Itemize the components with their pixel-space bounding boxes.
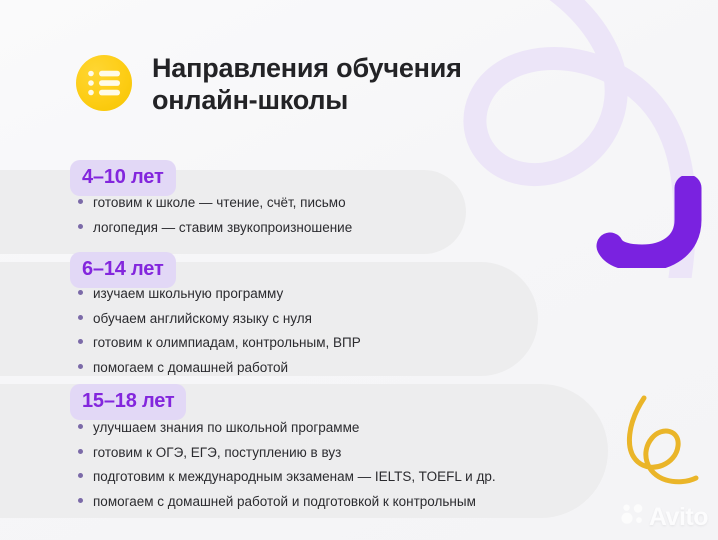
header: Направления обучения онлайн-школы xyxy=(76,52,462,117)
age-badge-2: 6–14 лет xyxy=(70,252,176,288)
lavender-loop-swirl-icon xyxy=(432,0,718,278)
list-item: улучшаем знания по школьной программе xyxy=(78,421,496,446)
bullet-dot-icon xyxy=(78,364,83,369)
list-item-label: изучаем школьную программу xyxy=(93,287,283,301)
list-item: помогаем с домашней работой и подготовко… xyxy=(78,495,496,509)
bulleted-list-icon xyxy=(76,55,132,111)
bullet-dot-icon xyxy=(78,449,83,454)
list-item: подготовим к международным экзаменам — I… xyxy=(78,470,496,495)
list-item-label: логопедия — ставим звукопроизношение xyxy=(93,221,352,235)
list-item: готовим к школе — чтение, счёт, письмо xyxy=(78,196,352,221)
age-badge-1: 4–10 лет xyxy=(70,160,176,196)
poster: Направления обучения онлайн-школы 4–10 л… xyxy=(0,0,718,540)
benefit-list-3: улучшаем знания по школьной программе го… xyxy=(78,421,496,508)
list-item-label: помогаем с домашней работой и подготовко… xyxy=(93,495,476,509)
bullet-dot-icon xyxy=(78,290,83,295)
benefit-list-2: изучаем школьную программу обучаем англи… xyxy=(78,287,361,374)
bullet-dot-icon xyxy=(78,315,83,320)
list-item: готовим к ОГЭ, ЕГЭ, поступлению в вуз xyxy=(78,446,496,471)
list-item: помогаем с домашней работой xyxy=(78,361,361,375)
list-item: изучаем школьную программу xyxy=(78,287,361,312)
age-badge-3: 15–18 лет xyxy=(70,384,186,420)
page-title: Направления обучения онлайн-школы xyxy=(152,52,462,117)
avito-dots-logo-icon xyxy=(621,503,645,532)
bullet-dot-icon xyxy=(78,339,83,344)
list-item-label: улучшаем знания по школьной программе xyxy=(93,421,359,435)
list-item-label: готовим к олимпиадам, контрольным, ВПР xyxy=(93,336,361,350)
list-item-label: готовим к школе — чтение, счёт, письмо xyxy=(93,196,346,210)
list-item-label: помогаем с домашней работой xyxy=(93,361,288,375)
list-item-label: обучаем английскому языку с нуля xyxy=(93,312,312,326)
list-item: готовим к олимпиадам, контрольным, ВПР xyxy=(78,336,361,361)
list-item: обучаем английскому языку с нуля xyxy=(78,312,361,337)
bullet-dot-icon xyxy=(78,498,83,503)
purple-j-hook-icon xyxy=(596,176,708,268)
avito-wordmark: Avito xyxy=(649,503,708,532)
avito-watermark: Avito xyxy=(621,503,708,532)
list-item: логопедия — ставим звукопроизношение xyxy=(78,221,352,235)
bullet-dot-icon xyxy=(78,424,83,429)
list-item-label: готовим к ОГЭ, ЕГЭ, поступлению в вуз xyxy=(93,446,341,460)
list-item-label: подготовим к международным экзаменам — I… xyxy=(93,470,496,484)
yellow-cursive-e-icon xyxy=(618,388,704,498)
bullet-dot-icon xyxy=(78,224,83,229)
bullet-dot-icon xyxy=(78,199,83,204)
benefit-list-1: готовим к школе — чтение, счёт, письмо л… xyxy=(78,196,352,234)
bullet-dot-icon xyxy=(78,473,83,478)
